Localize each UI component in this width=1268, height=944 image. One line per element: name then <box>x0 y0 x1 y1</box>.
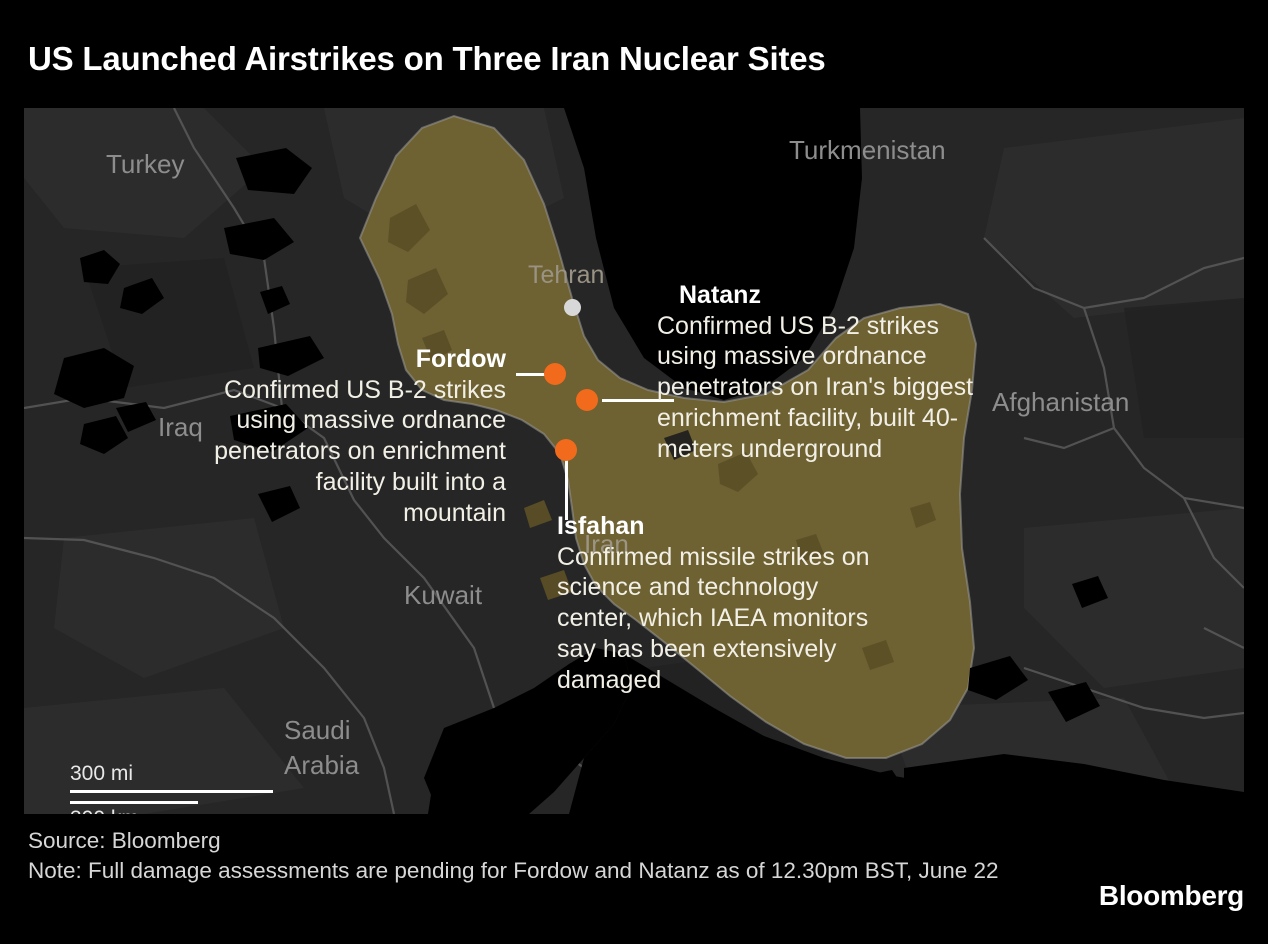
capital-dot-tehran <box>564 299 581 316</box>
infographic-root: US Launched Airstrikes on Three Iran Nuc… <box>0 0 1268 944</box>
callout-fordow-heading: Fordow <box>214 344 506 375</box>
scale-bar-miles-line <box>70 790 273 793</box>
callout-isfahan: Isfahan Confirmed missile strikes on sci… <box>557 511 897 695</box>
callout-fordow: Fordow Confirmed US B-2 strikes using ma… <box>214 344 506 528</box>
strike-marker-natanz[interactable] <box>576 389 598 411</box>
callout-natanz-heading: Natanz <box>657 280 1002 311</box>
map-canvas[interactable]: Turkey Turkmenistan Afghanistan Iraq Kuw… <box>24 108 1244 814</box>
callout-fordow-body: Confirmed US B-2 strikes using massive o… <box>214 375 506 529</box>
country-label-turkmenistan: Turkmenistan <box>789 136 946 165</box>
note-line: Note: Full damage assessments are pendin… <box>28 856 1028 886</box>
scale-bar-miles-label: 300 mi <box>70 760 273 788</box>
callout-isfahan-heading: Isfahan <box>557 511 897 542</box>
country-label-afghanistan: Afghanistan <box>992 388 1129 417</box>
scale-bar-km-label: 300 km <box>70 805 273 814</box>
city-label-tehran: Tehran <box>528 261 604 290</box>
country-label-turkey: Turkey <box>106 150 185 179</box>
strike-marker-isfahan[interactable] <box>555 439 577 461</box>
scale-bar-km-line <box>70 801 198 804</box>
country-label-saudi-arabia-line2: Arabia <box>284 751 359 780</box>
callout-isfahan-body: Confirmed missile strikes on science and… <box>557 542 897 696</box>
country-label-kuwait: Kuwait <box>404 581 482 610</box>
footer-text: Source: Bloomberg Note: Full damage asse… <box>28 826 1028 885</box>
country-label-iraq: Iraq <box>158 413 203 442</box>
strike-marker-fordow[interactable] <box>544 363 566 385</box>
country-label-saudi-arabia-line1: Saudi <box>284 716 351 745</box>
callout-natanz-body: Confirmed US B-2 strikes using massive o… <box>657 311 1002 465</box>
source-line: Source: Bloomberg <box>28 826 1028 856</box>
scale-bar: 300 mi 300 km <box>70 760 273 814</box>
callout-natanz: Natanz Confirmed US B-2 strikes using ma… <box>657 280 1002 464</box>
bloomberg-logo: Bloomberg <box>1099 880 1244 912</box>
page-title: US Launched Airstrikes on Three Iran Nuc… <box>28 40 1228 78</box>
map-geometry <box>24 108 1244 814</box>
